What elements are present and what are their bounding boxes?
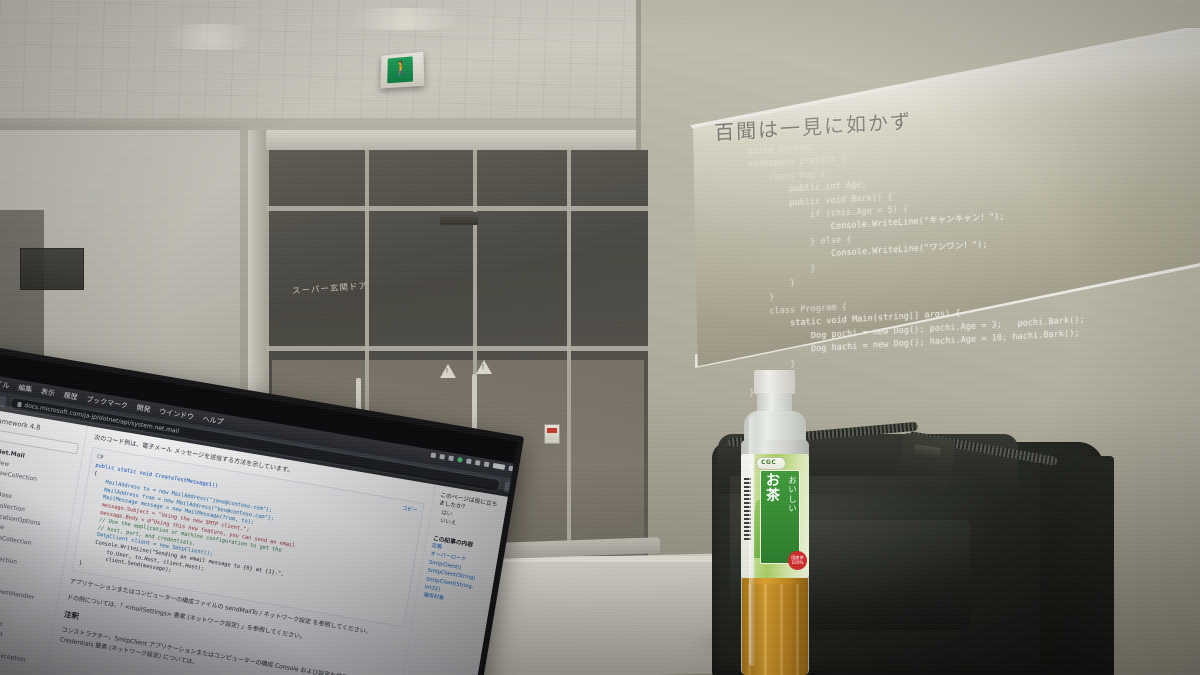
wall-access-panel	[20, 248, 84, 290]
warning-sticker-right	[476, 360, 492, 374]
forward-button[interactable]	[0, 395, 7, 408]
product-name-main: お茶	[763, 474, 783, 504]
copy-code-button[interactable]: コピー	[401, 504, 418, 513]
bottle-neck	[757, 393, 792, 413]
door-rail-mid	[266, 346, 648, 351]
status-dot-icon[interactable]	[457, 457, 463, 463]
lock-icon	[17, 402, 22, 408]
backpack-side-panel	[1040, 456, 1114, 675]
alcove-frame-top	[250, 130, 650, 152]
menu-edit[interactable]: 編集	[18, 382, 33, 394]
input-source-icon[interactable]	[475, 460, 481, 466]
brand-logo: CGC	[756, 457, 786, 470]
ceiling-light-2	[330, 8, 480, 30]
bottle-highlight	[749, 416, 756, 666]
wifi-icon[interactable]	[439, 454, 445, 460]
code-sample-block: C# コピー public static void CreateTestMess…	[71, 447, 424, 628]
dropbox-icon[interactable]	[430, 452, 436, 458]
bottle-cap	[754, 370, 795, 394]
volume-icon[interactable]	[466, 458, 472, 464]
menu-file[interactable]: ファイル	[0, 376, 10, 391]
menu-develop[interactable]: 開発	[136, 402, 151, 414]
ceiling-light-1	[150, 24, 270, 50]
menu-history[interactable]: 履歴	[63, 390, 78, 402]
code-language-label: C#	[96, 453, 103, 460]
door-rail-top	[266, 206, 648, 211]
product-name-sub: おいしい	[787, 476, 798, 514]
menu-view[interactable]: 表示	[40, 386, 55, 398]
projection-screen: 百聞は一見に如かず using System; namespace projec…	[690, 28, 1200, 368]
door-motion-sensor	[440, 212, 478, 225]
spotlight-icon[interactable]	[484, 461, 490, 467]
brand-name: CGC	[761, 459, 776, 466]
menu-help[interactable]: ヘルプ	[202, 413, 224, 426]
photo-scene: スーパー玄関ドア 🚶 百聞は一見に如かず using System; names…	[0, 0, 1200, 675]
warning-sticker-left	[440, 364, 456, 378]
clock-label[interactable]	[493, 463, 506, 470]
origin-badge: 国産茶 100%	[788, 551, 807, 570]
emergency-exit-sign: 🚶	[380, 52, 424, 89]
bluetooth-icon[interactable]	[448, 455, 454, 461]
slide-code-block: using System; namespace project { class …	[748, 118, 1200, 401]
door-notice-sign	[544, 424, 560, 444]
tea-bottle: CGC お茶 おいしい 国産茶 100%	[733, 370, 817, 675]
label-green-panel: お茶 おいしい	[760, 470, 800, 564]
running-person-icon: 🚶	[392, 61, 401, 78]
